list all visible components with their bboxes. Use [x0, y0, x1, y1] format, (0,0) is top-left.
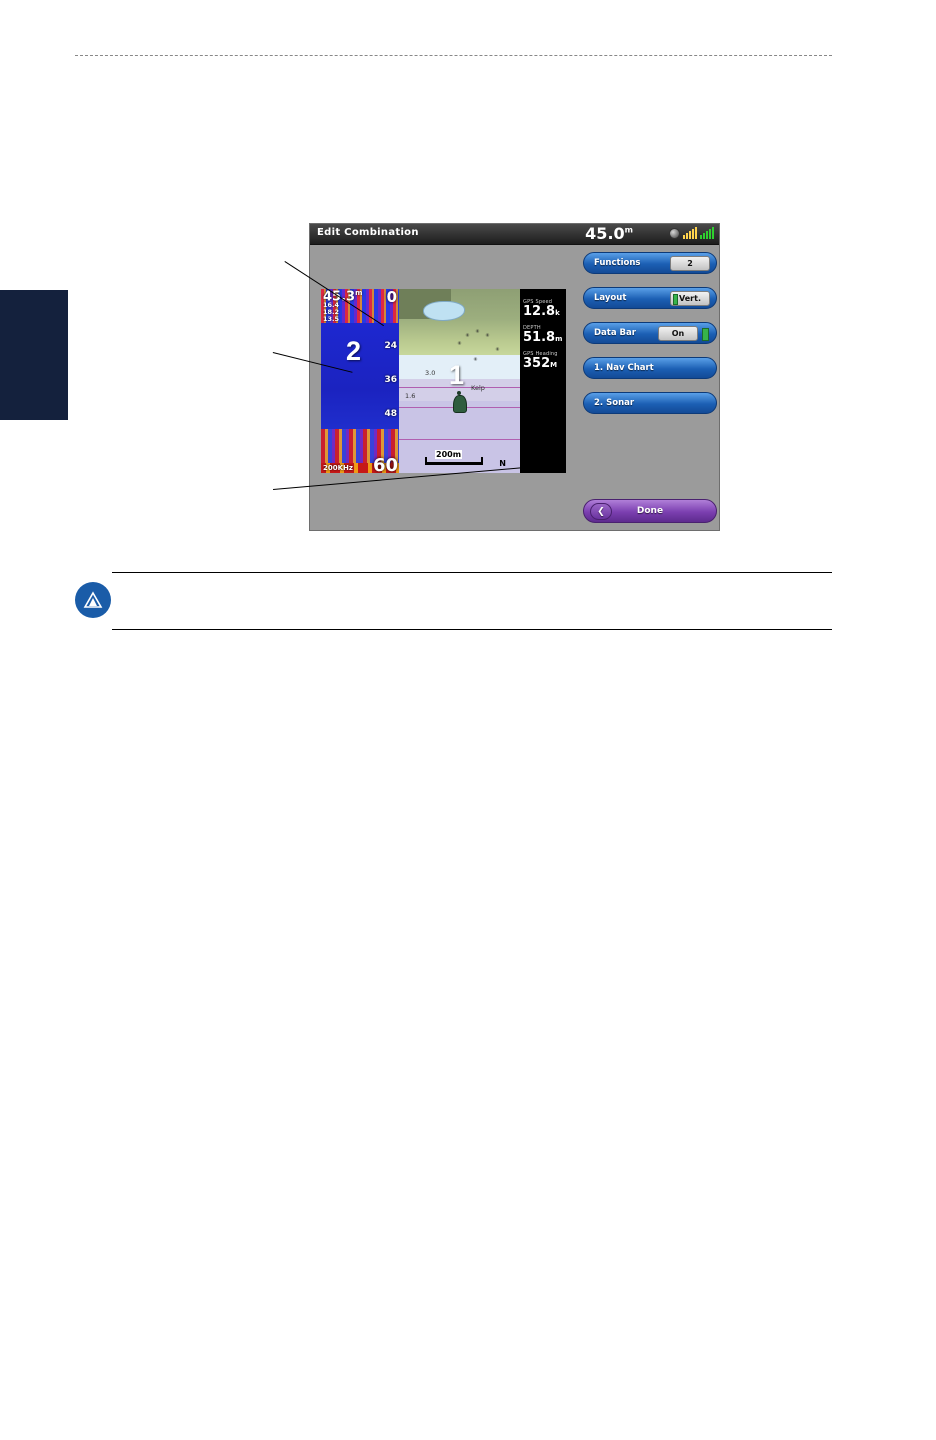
data-bar-value-depth: 51.8m: [523, 331, 565, 346]
data-bar-value-gps-speed: 12.8k: [523, 305, 565, 320]
sonar-depth-unit: m: [355, 289, 362, 297]
header-rule: [75, 55, 832, 56]
page-title: Edit Combination: [317, 227, 419, 238]
garmin-note-icon: [75, 582, 111, 618]
functions-button[interactable]: Functions 2: [583, 252, 717, 274]
chart-scale-bar: 200m: [425, 451, 485, 467]
sonar-readout-3: 13.5: [323, 315, 339, 323]
chart-symbol-4: ✳: [457, 341, 462, 347]
layout-button-label: Layout: [594, 293, 626, 303]
signal-bars-secondary-icon: [700, 227, 714, 239]
sonar-scale-60: 60: [373, 455, 398, 473]
done-button-label: Done: [637, 506, 663, 516]
sonar-frequency-label: 200KHz: [323, 464, 353, 472]
sonar-pane[interactable]: 45.3m 16.4 18.2 13.5 0 24 36 48 60 200KH…: [321, 289, 399, 473]
pane-number-1: 1: [449, 360, 464, 391]
depth-unit: m: [625, 226, 633, 235]
chart-symbol-3: ✳: [485, 333, 490, 339]
signal-bars-icon: [683, 227, 697, 239]
data-bar-item-gps-speed: GPS Speed 12.8k: [523, 299, 565, 320]
note-block: [75, 572, 832, 630]
chart-depth-contour-3: [399, 439, 520, 440]
done-button[interactable]: ❮ Done: [583, 499, 717, 523]
sonar-button[interactable]: 2. Sonar: [583, 392, 717, 414]
data-bar-item-depth: DEPTH 51.8m: [523, 325, 565, 346]
note-rule-bottom: [112, 629, 832, 630]
device-screenshot: Edit Combination 45.0m 45.3m 16.4 18.2 1…: [309, 223, 720, 531]
status-icons: [669, 227, 714, 239]
nav-chart-button[interactable]: 1. Nav Chart: [583, 357, 717, 379]
data-bar: GPS Speed 12.8k DEPTH 51.8m GPS Heading …: [520, 289, 566, 473]
chart-depth-label-2: 1.6: [405, 392, 415, 400]
functions-button-label: Functions: [594, 258, 640, 268]
device-titlebar: Edit Combination 45.0m: [310, 224, 719, 245]
boat-icon: [452, 392, 466, 412]
data-bar-value-gps-heading: 352M: [523, 357, 565, 372]
data-bar-button-value: On: [658, 326, 698, 341]
data-bar-button[interactable]: Data Bar On: [583, 322, 717, 344]
data-bar-item-gps-heading: GPS Heading 352M: [523, 351, 565, 372]
chart-symbol-6: ✳: [473, 357, 478, 363]
chart-land-area: [399, 289, 520, 363]
sonar-scale-48: 48: [384, 409, 397, 419]
gps-dot-icon: [669, 228, 680, 239]
depth-value: 45.0: [585, 224, 624, 243]
chart-north-indicator: N: [499, 459, 506, 468]
chart-kelp-label: Kelp: [471, 384, 485, 392]
functions-button-value: 2: [670, 256, 710, 271]
nav-chart-button-label: 1. Nav Chart: [594, 363, 654, 373]
chart-depth-label-1: 3.0: [425, 369, 435, 377]
sonar-button-label: 2. Sonar: [594, 398, 634, 408]
note-rule-top: [112, 572, 832, 573]
sonar-scale-24: 24: [384, 341, 397, 351]
layout-button[interactable]: Layout Vert.: [583, 287, 717, 309]
chart-symbol-2: ✳: [475, 329, 480, 335]
chevron-left-icon[interactable]: ❮: [590, 503, 612, 520]
layout-button-value: Vert.: [670, 291, 710, 306]
chart-symbol-5: ✳: [495, 347, 500, 353]
sonar-scale-0: 0: [387, 289, 397, 306]
pane-number-2: 2: [346, 336, 361, 367]
sonar-scale-36: 36: [384, 375, 397, 385]
side-chapter-tab: [0, 290, 68, 420]
chart-scale-label: 200m: [435, 450, 462, 459]
data-bar-button-label: Data Bar: [594, 328, 636, 338]
chart-symbol-1: ✳: [465, 333, 470, 339]
depth-readout: 45.0m: [585, 224, 633, 243]
